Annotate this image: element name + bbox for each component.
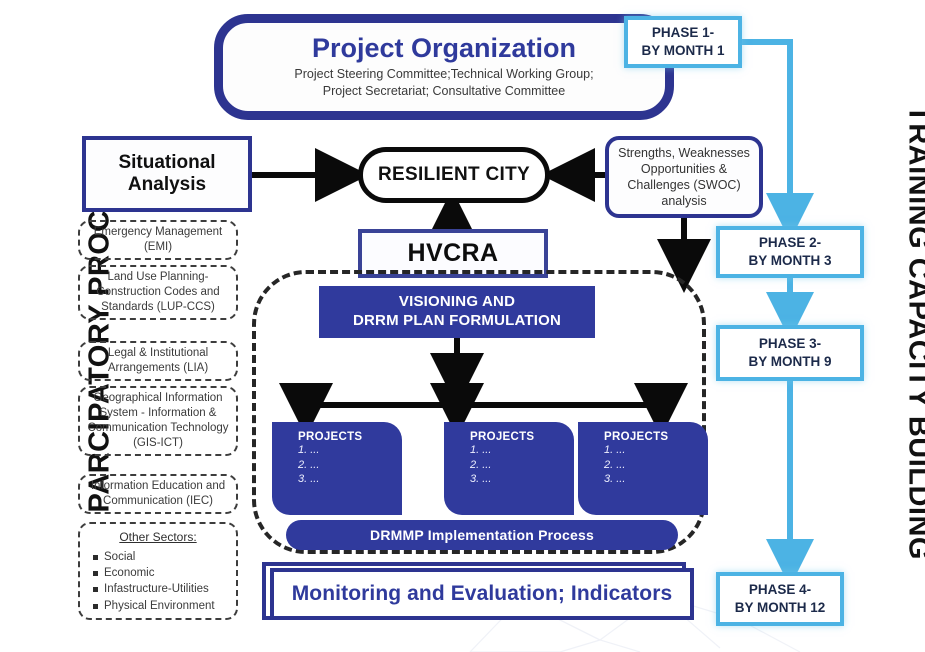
phase-4-line2: BY MONTH 12 <box>735 599 826 617</box>
phase-3-label: PHASE 3- BY MONTH 9 <box>748 335 831 370</box>
phase-2-box[interactable]: PHASE 2- BY MONTH 3 <box>716 226 864 278</box>
swoc-label: Strengths, Weaknesses Opportunities & Ch… <box>618 145 750 210</box>
other-sectors-item: Economic <box>104 565 226 581</box>
phase-2-line2: BY MONTH 3 <box>748 252 831 270</box>
phase-2-line1: PHASE 2- <box>748 234 831 252</box>
right-vertical-title: TRAINING CAPACITY BUILDING <box>902 23 925 643</box>
projects-card-title: PROJECTS <box>470 431 574 443</box>
swoc-line1: Strengths, Weaknesses <box>618 145 750 161</box>
swoc-line4: analysis <box>618 193 750 209</box>
phase-2-label: PHASE 2- BY MONTH 3 <box>748 234 831 269</box>
situational-analysis-line1: Situational <box>118 152 215 174</box>
phase-4-line1: PHASE 4- <box>735 581 826 599</box>
projects-card-item: 1. ... <box>470 443 574 458</box>
projects-card-item: 3. ... <box>470 472 574 487</box>
projects-card-title: PROJECTS <box>298 431 402 443</box>
phase-3-line1: PHASE 3- <box>748 335 831 353</box>
projects-card[interactable]: PROJECTS 1. ... 2. ... 3. ... <box>444 422 574 515</box>
swoc-line2: Opportunities & <box>618 161 750 177</box>
phase-4-label: PHASE 4- BY MONTH 12 <box>735 581 826 616</box>
sector-item-emi[interactable]: Emergency Management (EMI) <box>78 220 238 260</box>
sector-item-iec[interactable]: Information Education and Communication … <box>78 474 238 514</box>
projects-card[interactable]: PROJECTS 1. ... 2. ... 3. ... <box>578 422 708 515</box>
projects-card-item: 3. ... <box>604 472 708 487</box>
visioning-line2: DRRM PLAN FORMULATION <box>353 312 561 331</box>
phase-1-label: PHASE 1- BY MONTH 1 <box>641 24 724 59</box>
projects-card-item: 3. ... <box>298 472 402 487</box>
sector-item-gisict[interactable]: Geographical Information System - Inform… <box>78 386 238 456</box>
swoc-line3: Challenges (SWOC) <box>618 177 750 193</box>
sector-item-lia[interactable]: Legal & Institutional Arrangements (LIA) <box>78 341 238 381</box>
project-organization-box[interactable]: Project Organization Project Steering Co… <box>214 14 674 120</box>
swoc-analysis-box[interactable]: Strengths, Weaknesses Opportunities & Ch… <box>605 136 763 218</box>
projects-card[interactable]: PROJECTS 1. ... 2. ... 3. ... <box>272 422 402 515</box>
sector-item-other-sectors[interactable]: Other Sectors: Social Economic Infastruc… <box>78 522 238 620</box>
projects-card-item: 2. ... <box>604 458 708 473</box>
other-sectors-list: Social Economic Infastructure-Utilities … <box>90 549 226 614</box>
phase-1-box[interactable]: PHASE 1- BY MONTH 1 <box>624 16 742 68</box>
situational-analysis-line2: Analysis <box>118 174 215 196</box>
diagram-canvas: PARCIPATORY PROCESS TRAINING CAPACITY BU… <box>0 0 925 652</box>
sector-item-lupccs[interactable]: Land Use Planning-Construction Codes and… <box>78 265 238 320</box>
project-organization-subtitle-line2: Project Secretariat; Consultative Commit… <box>294 83 593 100</box>
other-sectors-item: Social <box>104 549 226 565</box>
other-sectors-title: Other Sectors: <box>90 530 226 546</box>
projects-card-title: PROJECTS <box>604 431 708 443</box>
phase-1-line1: PHASE 1- <box>641 24 724 42</box>
monitoring-evaluation-box[interactable]: Monitoring and Evaluation; Indicators <box>270 568 694 620</box>
projects-card-item: 1. ... <box>604 443 708 458</box>
project-organization-subtitle-line1: Project Steering Committee;Technical Wor… <box>294 66 593 83</box>
project-organization-subtitle: Project Steering Committee;Technical Wor… <box>294 66 593 100</box>
visioning-drrm-plan-box[interactable]: VISIONING AND DRRM PLAN FORMULATION <box>319 286 595 338</box>
phase-4-box[interactable]: PHASE 4- BY MONTH 12 <box>716 572 844 626</box>
drmmp-implementation-process-box[interactable]: DRMMP Implementation Process <box>286 520 678 550</box>
other-sectors-item: Infastructure-Utilities <box>104 581 226 597</box>
visioning-label: VISIONING AND DRRM PLAN FORMULATION <box>353 293 561 331</box>
projects-card-item: 2. ... <box>470 458 574 473</box>
phase-1-line2: BY MONTH 1 <box>641 42 724 60</box>
resilient-city-node[interactable]: RESILIENT CITY <box>358 147 550 203</box>
other-sectors-item: Physical Environment <box>104 598 226 614</box>
situational-analysis-box[interactable]: Situational Analysis <box>82 136 252 212</box>
project-organization-title: Project Organization <box>312 34 576 62</box>
situational-analysis-label: Situational Analysis <box>118 152 215 196</box>
phase-3-line2: BY MONTH 9 <box>748 353 831 371</box>
visioning-line1: VISIONING AND <box>353 293 561 312</box>
phase-3-box[interactable]: PHASE 3- BY MONTH 9 <box>716 325 864 381</box>
projects-card-item: 2. ... <box>298 458 402 473</box>
projects-card-item: 1. ... <box>298 443 402 458</box>
